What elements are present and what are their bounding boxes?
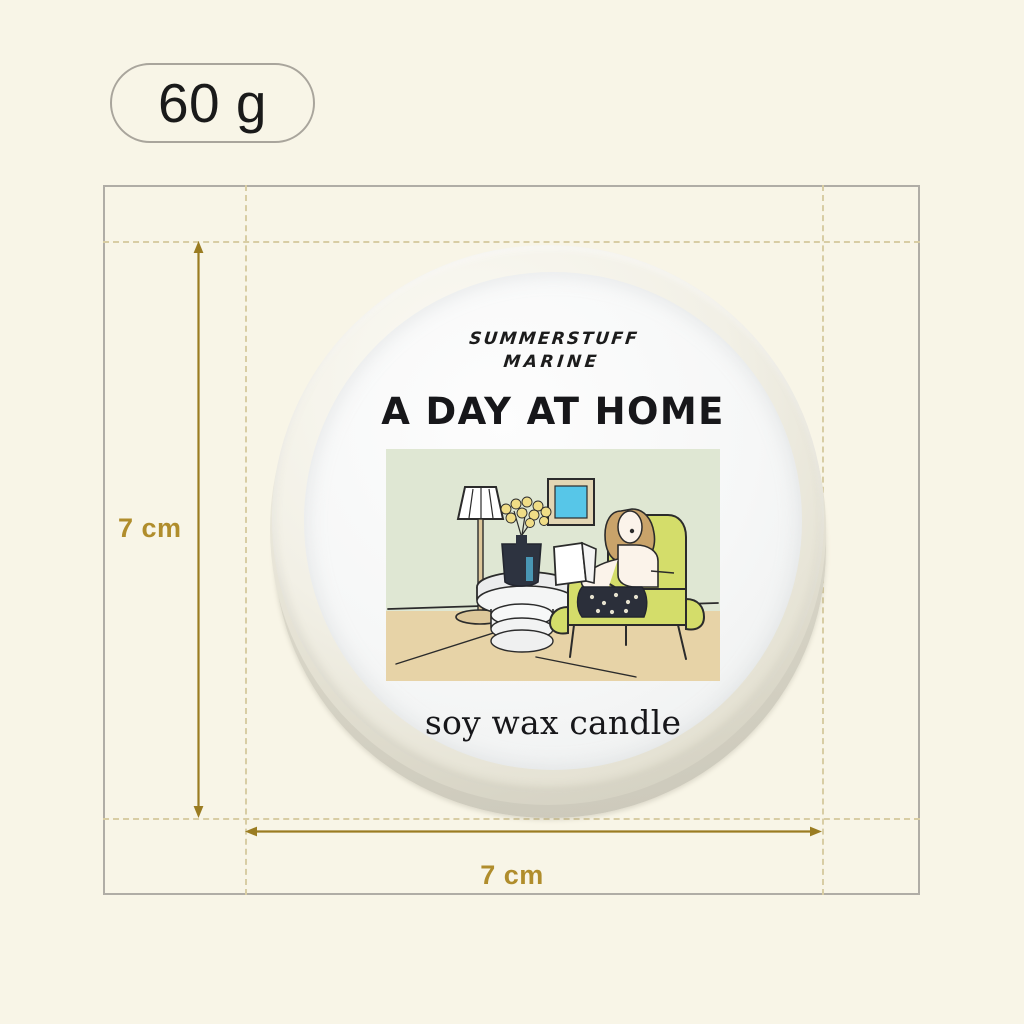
weight-badge: 60 g <box>110 63 315 143</box>
tin-label: SUMMERSTUFF MARINE A DAY AT HOME <box>304 272 802 770</box>
guide-line-bottom <box>103 818 920 820</box>
brand-line-1: SUMMERSTUFF <box>468 328 640 351</box>
brand-line-2: MARINE <box>466 351 638 374</box>
guide-line-left <box>245 185 247 895</box>
tin-lid: SUMMERSTUFF MARINE A DAY AT HOME <box>272 245 824 793</box>
weight-badge-label: 60 g <box>158 76 267 131</box>
product-subtitle: soy wax candle <box>425 703 681 742</box>
wall-picture-icon <box>548 479 594 525</box>
product-title: A DAY AT HOME <box>381 390 725 433</box>
height-dimension-arrow <box>192 241 205 818</box>
candle-tin: SUMMERSTUFF MARINE A DAY AT HOME <box>266 243 834 818</box>
width-dimension-arrow <box>245 825 822 838</box>
brand-name: SUMMERSTUFF MARINE <box>466 328 640 374</box>
illustration-svg <box>386 449 720 681</box>
scene-illustration <box>386 449 720 681</box>
width-dimension-label: 7 cm <box>0 860 1024 891</box>
height-dimension-label: 7 cm <box>118 513 182 544</box>
